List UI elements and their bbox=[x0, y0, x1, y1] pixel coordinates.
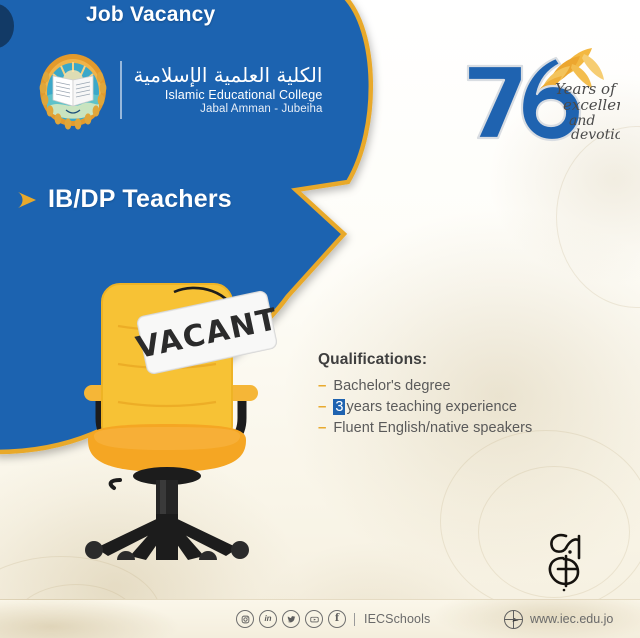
qualifications-block: Qualifications: – Bachelor's degree – 3y… bbox=[318, 351, 608, 441]
qualification-text-rest: years teaching experience bbox=[346, 399, 517, 415]
website-url[interactable]: www.iec.edu.jo bbox=[530, 612, 613, 626]
college-name-arabic: الكلية العلمية الإسلامية bbox=[134, 64, 323, 86]
qualification-dash: – bbox=[318, 399, 326, 414]
college-logo-lockup: الكلية العلمية الإسلامية Islamic Educati… bbox=[36, 50, 322, 130]
anniv-line4: devotion bbox=[571, 127, 620, 143]
footer-bar: in f IECSchools www.iec.edu.jo bbox=[0, 599, 640, 638]
job-title-row: IB/DP Teachers bbox=[16, 185, 232, 214]
qualification-dash: – bbox=[318, 378, 326, 393]
office-chair-illustration: VACANT bbox=[56, 268, 292, 560]
years-highlight: 3 bbox=[333, 399, 345, 415]
facebook-icon[interactable]: f bbox=[328, 610, 346, 628]
qualification-dash: – bbox=[318, 420, 326, 435]
qualification-item: – 3years teaching experience bbox=[318, 399, 608, 415]
job-title: IB/DP Teachers bbox=[48, 185, 232, 214]
instagram-icon[interactable] bbox=[236, 610, 254, 628]
college-crest-icon bbox=[36, 50, 110, 130]
anniv-line2: excellence bbox=[563, 96, 620, 114]
youtube-icon[interactable] bbox=[305, 610, 323, 628]
social-links: in f IECSchools bbox=[236, 610, 430, 628]
cursor-icon bbox=[512, 618, 518, 624]
college-campus: Jabal Amman - Jubeiha bbox=[200, 103, 322, 116]
college-name-english: Islamic Educational College bbox=[165, 88, 323, 102]
footer-divider bbox=[354, 613, 355, 626]
twitter-icon[interactable] bbox=[282, 610, 300, 628]
qualification-text: Fluent English/native speakers bbox=[333, 420, 532, 436]
linkedin-icon[interactable]: in bbox=[259, 610, 277, 628]
qualification-text: 3years teaching experience bbox=[333, 399, 517, 415]
qualification-item: – Fluent English/native speakers bbox=[318, 420, 608, 436]
qualifications-title: Qualifications: bbox=[318, 351, 608, 369]
qualification-text: Bachelor's degree bbox=[333, 378, 450, 394]
globe-icon bbox=[504, 610, 523, 629]
page-title: Job Vacancy bbox=[86, 3, 215, 27]
qualification-item: – Bachelor's degree bbox=[318, 378, 608, 394]
logo-divider bbox=[120, 61, 122, 119]
anniversary-logo: Years of excellence and devotion bbox=[452, 36, 620, 146]
arabic-calligraphy-emblem bbox=[536, 528, 592, 592]
arrow-bullet-icon bbox=[16, 189, 38, 211]
chair-base bbox=[96, 514, 238, 560]
social-handle[interactable]: IECSchools bbox=[364, 612, 430, 626]
job-vacancy-poster: Job Vacancy bbox=[0, 0, 640, 638]
website-link[interactable]: www.iec.edu.jo bbox=[504, 610, 613, 629]
college-name-block: الكلية العلمية الإسلامية Islamic Educati… bbox=[134, 64, 323, 116]
